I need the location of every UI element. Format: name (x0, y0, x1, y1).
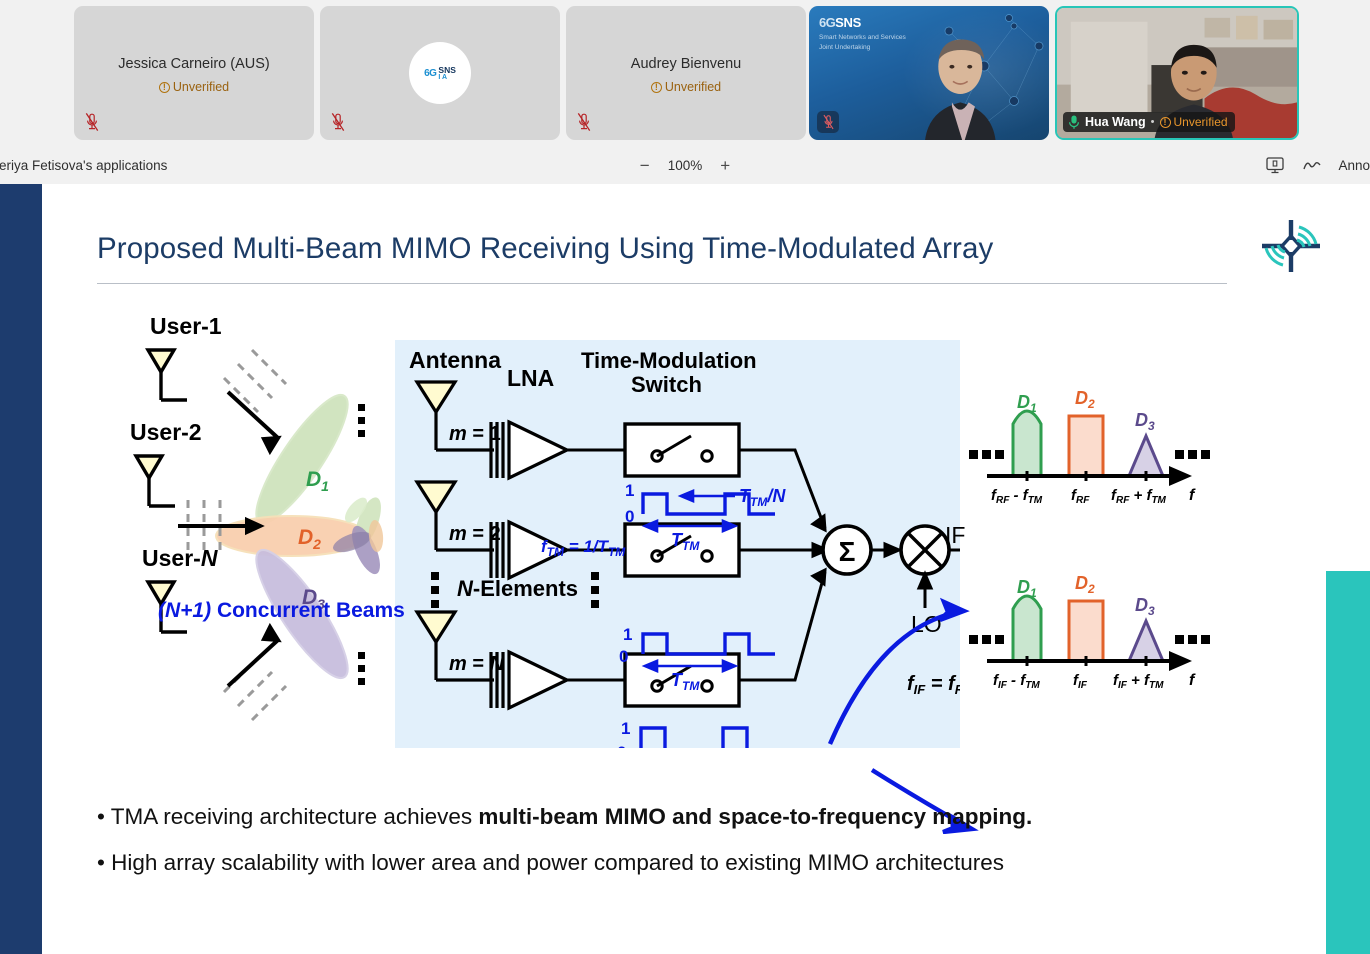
mic-muted-badge (817, 111, 839, 133)
branch-mn-label: m = N (449, 653, 505, 675)
participant-name: Hua Wang (1085, 115, 1146, 129)
participant-tile-hua-wang[interactable]: Hua Wang • Unverified (1055, 6, 1299, 140)
bullet-1-bold: multi-beam MIMO and space-to-frequency m… (478, 804, 1032, 829)
if-d1-label: D1 (1017, 577, 1037, 600)
participant-tile-sns[interactable]: 6G SNS I A (320, 6, 560, 140)
brand-6g: 6G (819, 15, 835, 30)
shared-content-title: leriya Fetisova's applications (0, 158, 167, 173)
sns-avatar: 6G SNS I A (409, 42, 471, 104)
participant-tile-speaker-video[interactable]: 6GSNS Smart Networks and Services Joint … (809, 6, 1049, 140)
zoom-out-button[interactable]: − (640, 157, 650, 174)
zoom-controls: − 100% + (640, 157, 730, 174)
unverified-badge: Unverified (1160, 115, 1228, 129)
rf-d3-label: D3 (1135, 410, 1155, 433)
if-tick-2: fIF (1073, 672, 1088, 691)
n-elements-label: N-Elements (457, 576, 578, 601)
if-axis-label: f (1189, 672, 1196, 689)
rf-d2-label: D2 (1075, 388, 1095, 411)
unverified-badge: Unverified (566, 80, 806, 94)
user-1-label: User-1 (150, 313, 222, 339)
mic-muted-icon (576, 112, 592, 132)
rf-axis-label: f (1189, 487, 1196, 504)
mic-muted-icon (330, 112, 346, 132)
screen-share-window: Jessica Carneiro (AUS) Unverified 6G SNS… (0, 0, 1370, 954)
logo-ia-text: I A (438, 74, 447, 81)
if-d2-label: D2 (1075, 573, 1095, 596)
if-tick-1: fIF - fTM (993, 672, 1040, 691)
brand-sns: SNS (835, 15, 861, 30)
zoom-level-value: 100% (668, 158, 703, 173)
bullet-item-1: • TMA receiving architecture achieves mu… (97, 794, 1277, 840)
shared-slide: Proposed Multi-Beam MIMO Receiving Using… (0, 184, 1370, 954)
bullet-1-plain: TMA receiving architecture achieves (111, 804, 479, 829)
sns-brand-overlay: 6GSNS Smart Networks and Services Joint … (819, 14, 906, 53)
waveform-low-2: 0 (619, 647, 628, 666)
multi-beam-illustration: User-1 User-2 User-N D1 D2 D3 (120, 304, 420, 764)
annotate-label[interactable]: Anno (1338, 158, 1370, 173)
rf-tick-1: fRF - fTM (991, 487, 1043, 506)
mic-muted-icon (84, 112, 100, 132)
concurrent-beams-caption: (N+1) Concurrent Beams (158, 599, 405, 623)
unverified-badge: Unverified (74, 80, 314, 94)
ftm-formula-label: fTM = 1/TTM (541, 537, 626, 559)
mic-muted-icon (822, 114, 835, 130)
bullet-marker: • (97, 804, 105, 829)
user-n-label: User-N (142, 545, 218, 571)
person-silhouette (900, 29, 1025, 140)
antenna-label: Antenna (409, 347, 501, 373)
brand-tagline-1: Smart Networks and Services (819, 34, 906, 42)
if-spectrum-chart: D1 D2 D3 fIF - fTM fIF fIF + fTM f (965, 569, 1215, 719)
rf-tick-2: fRF (1071, 487, 1090, 506)
logo-sns-text: SNS (438, 66, 455, 74)
if-tick-3: fIF + fTM (1113, 672, 1164, 691)
waveform-low-3: 0 (617, 743, 626, 748)
logo-6g-text: 6G (424, 68, 436, 79)
toolbar-right-actions: Anno (1264, 155, 1370, 175)
waveform-high-2: 1 (623, 625, 632, 644)
branch-m1-label: m = 1 (449, 423, 501, 445)
waveform-high-1: 1 (625, 481, 634, 500)
bullet-2-plain: High array scalability with lower area a… (111, 850, 1004, 875)
annotate-pen-icon[interactable] (1302, 156, 1322, 174)
waveform-low-1: 0 (625, 507, 634, 526)
participant-name: Jessica Carneiro (AUS) (74, 56, 314, 72)
brand-tagline-2: Joint Undertaking (819, 44, 906, 52)
lna-label: LNA (507, 365, 554, 391)
ttm-over-n-label: TTM/N (739, 486, 786, 509)
rf-d1-label: D1 (1017, 392, 1037, 415)
warning-icon (159, 82, 170, 93)
warning-icon (1160, 117, 1171, 128)
participant-name-pill: Hua Wang • Unverified (1063, 112, 1235, 132)
mic-icon (1068, 114, 1080, 130)
rf-tick-3: fRF + fTM (1111, 487, 1167, 506)
participant-filmstrip: Jessica Carneiro (AUS) Unverified 6G SNS… (0, 0, 1370, 146)
warning-icon (651, 82, 662, 93)
share-toolbar: leriya Fetisova's applications − 100% + … (0, 146, 1370, 184)
beam-d1-label: D1 (306, 468, 329, 494)
participant-tile-jessica[interactable]: Jessica Carneiro (AUS) Unverified (74, 6, 314, 140)
rf-spectrum-chart: D1 D2 D3 fRF - fTM fRF fRF + fTM f (965, 384, 1215, 534)
tm-switch-label-2: Switch (631, 372, 702, 397)
bullet-marker: • (97, 850, 105, 875)
slide-figure: User-1 User-2 User-N D1 D2 D3 (N+1) Conc… (0, 184, 1370, 804)
participant-tile-audrey[interactable]: Audrey Bienvenu Unverified (566, 6, 806, 140)
zoom-in-button[interactable]: + (720, 157, 730, 174)
slide-bullet-list: • TMA receiving architecture achieves mu… (97, 794, 1277, 886)
branch-m2-label: m = 2 (449, 523, 501, 545)
participant-name: Audrey Bienvenu (566, 56, 806, 72)
if-d3-label: D3 (1135, 595, 1155, 618)
bullet-item-2: • High array scalability with lower area… (97, 840, 1277, 886)
user-2-label: User-2 (130, 419, 202, 445)
waveform-high-3: 1 (621, 719, 630, 738)
screen-icon[interactable] (1264, 155, 1286, 175)
separator-dot: • (1151, 116, 1155, 128)
tm-switch-label-1: Time-Modulation (581, 348, 757, 373)
